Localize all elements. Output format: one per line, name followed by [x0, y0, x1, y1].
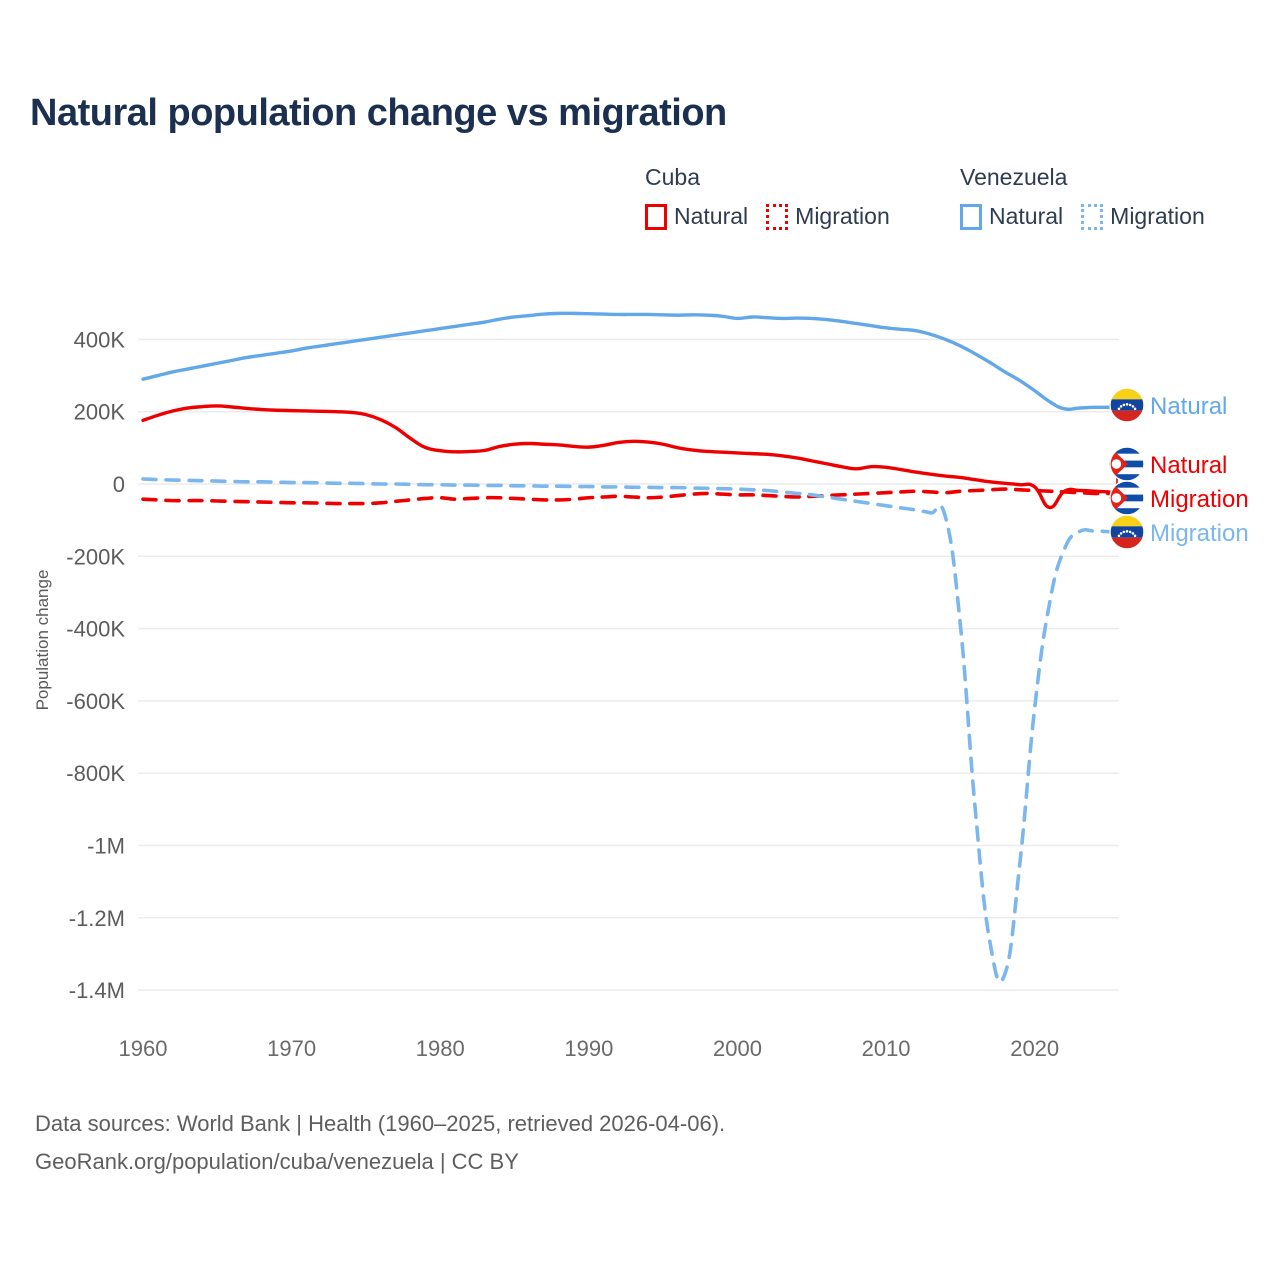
- plot-area: 400K200K0-200K-400K-600K-800K-1M-1.2M-1.…: [0, 0, 1280, 1280]
- end-label-text-venezuela-natural: Natural: [1150, 393, 1227, 420]
- x-axis-tick-label: 1980: [416, 1036, 465, 1061]
- footer: Data sources: World Bank | Health (1960–…: [35, 1105, 725, 1181]
- y-axis-ticks: 400K200K0-200K-400K-600K-800K-1M-1.2M-1.…: [66, 327, 125, 1003]
- x-axis-tick-label: 2020: [1010, 1036, 1059, 1061]
- end-label-cuba-migration[interactable]: Migration: [1110, 481, 1249, 515]
- y-axis-tick-label: -800K: [66, 761, 125, 786]
- venezuela-flag-icon: [1110, 515, 1144, 549]
- y-axis-tick-label: 400K: [74, 327, 126, 352]
- x-axis-tick-label: 2010: [862, 1036, 911, 1061]
- series-line-venezuela-natural: [143, 313, 1109, 409]
- y-axis-tick-label: -1.2M: [69, 906, 125, 931]
- end-label-venezuela-natural[interactable]: Natural: [1110, 388, 1227, 422]
- gridlines: [138, 339, 1119, 990]
- series-line-cuba-migration: [143, 489, 1109, 504]
- y-axis-label: Population change: [33, 570, 52, 711]
- end-label-text-cuba-natural: Natural: [1150, 452, 1227, 479]
- end-label-venezuela-migration[interactable]: Migration: [1110, 515, 1249, 549]
- y-axis-tick-label: -200K: [66, 544, 125, 569]
- chart-svg: 400K200K0-200K-400K-600K-800K-1M-1.2M-1.…: [0, 0, 1280, 1280]
- end-label-cuba-natural[interactable]: Natural: [1110, 447, 1227, 481]
- x-axis-ticks: 1960197019801990200020102020: [119, 1036, 1060, 1061]
- y-axis-tick-label: -600K: [66, 689, 125, 714]
- y-axis-tick-label: -1M: [87, 834, 125, 859]
- end-labels: NaturalNaturalMigrationMigration: [1110, 388, 1249, 549]
- y-axis-tick-label: 200K: [74, 400, 126, 425]
- x-axis-tick-label: 1970: [267, 1036, 316, 1061]
- series-line-venezuela-migration: [143, 479, 1109, 982]
- chart-container: Natural population change vs migration C…: [0, 0, 1280, 1280]
- end-label-text-cuba-migration: Migration: [1150, 486, 1249, 513]
- cuba-flag-icon: [1110, 481, 1144, 515]
- y-axis-tick-label: -1.4M: [69, 978, 125, 1003]
- x-axis-tick-label: 1990: [564, 1036, 613, 1061]
- y-axis-tick-label: 0: [113, 472, 125, 497]
- x-axis-tick-label: 2000: [713, 1036, 762, 1061]
- series-lines: [143, 313, 1109, 981]
- x-axis-tick-label: 1960: [119, 1036, 168, 1061]
- venezuela-flag-icon: [1110, 388, 1144, 422]
- y-axis-tick-label: -400K: [66, 617, 125, 642]
- cuba-flag-icon: [1110, 447, 1144, 481]
- series-line-cuba-natural: [143, 406, 1109, 508]
- end-label-text-venezuela-migration: Migration: [1150, 520, 1249, 547]
- footer-attribution: GeoRank.org/population/cuba/venezuela | …: [35, 1143, 725, 1181]
- footer-data-sources: Data sources: World Bank | Health (1960–…: [35, 1105, 725, 1143]
